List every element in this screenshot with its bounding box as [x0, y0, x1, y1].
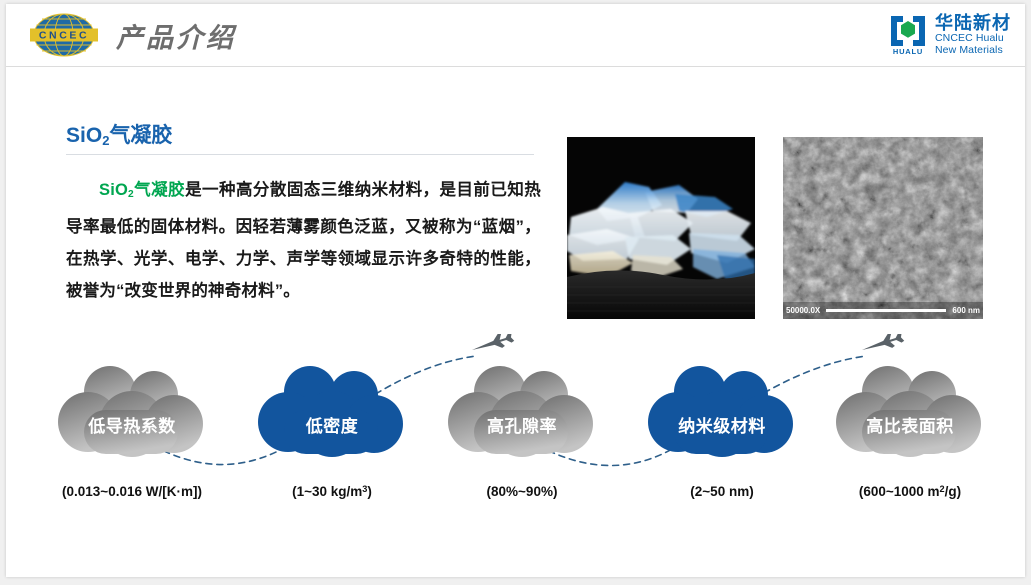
sem-ruler-line [826, 309, 946, 312]
paragraph-highlight-main: SiO [99, 181, 128, 199]
section-title: SiO2气凝胶 [66, 119, 172, 149]
cloud-high-specific-surface[interactable]: 高比表面积 [832, 362, 988, 458]
section-title-rest: 气凝胶 [109, 124, 172, 147]
cloud-low-density[interactable]: 低密度 [254, 362, 410, 458]
caption-5-post: /g) [945, 484, 962, 499]
cloud-nanoscale-material[interactable]: 纳米级材料 [644, 362, 800, 458]
sem-micrograph: 50000.0X 600 nm [783, 137, 983, 319]
cloud-high-porosity[interactable]: 高孔隙率 [444, 362, 600, 458]
caption-3: (80%~90%) [407, 484, 637, 499]
hualu-logo-en2: New Materials [935, 45, 1011, 56]
caption-2-pre: (1~30 kg/m [292, 484, 362, 499]
plane-icon-4 [860, 334, 905, 357]
paragraph-highlight: SiO2气凝胶 [99, 181, 185, 199]
sem-scale-value: 600 nm [952, 306, 980, 315]
cloud-label-5: 高比表面积 [832, 412, 988, 437]
sem-magnification: 50000.0X [786, 306, 820, 315]
caption-5: (600~1000 m2/g) [795, 484, 1025, 499]
cncec-globe-logo: CNCEC [22, 12, 106, 58]
cloud-label-4: 纳米级材料 [644, 412, 800, 437]
cloud-label-2: 低密度 [254, 412, 410, 437]
cncec-wordmark: CNCEC [39, 30, 89, 42]
hualu-logo-text: 华陆新材 CNCEC Hualu New Materials [935, 14, 1011, 56]
page-title: 产品介绍 [116, 16, 236, 55]
cloud-label-1: 低导热系数 [54, 412, 210, 437]
sem-scale-bar: 50000.0X 600 nm [783, 302, 983, 319]
paragraph-highlight-rest: 气凝胶 [134, 181, 185, 199]
caption-2-post: ) [367, 484, 372, 499]
aerogel-photo [567, 137, 755, 319]
properties-cloud-diagram: 低导热系数 低密度 [6, 334, 1025, 514]
cncec-hualu-logo: HUALU 华陆新材 CNCEC Hualu New Materials [888, 13, 1011, 57]
caption-1: (0.013~0.016 W/[K·m]) [17, 484, 247, 499]
hualu-mark-word: HUALU [888, 47, 928, 56]
plane-icon-2 [470, 334, 515, 357]
section-title-divider [66, 154, 534, 155]
cloud-low-thermal-conductivity[interactable]: 低导热系数 [54, 362, 210, 458]
slide-header: CNCEC 产品介绍 HUALU 华陆新材 CNCEC Hualu New Ma… [6, 4, 1025, 67]
caption-5-pre: (600~1000 m [859, 484, 940, 499]
hualu-logo-cn: 华陆新材 [935, 14, 1011, 33]
section-title-main: SiO [66, 124, 102, 147]
hualu-bracket-hex-icon: HUALU [888, 14, 928, 56]
slide: CNCEC 产品介绍 HUALU 华陆新材 CNCEC Hualu New Ma… [6, 4, 1025, 577]
cloud-label-3: 高孔隙率 [444, 412, 600, 437]
description-paragraph: SiO2气凝胶是一种高分散固态三维纳米材料，是目前已知热导率最低的固体材料。因轻… [66, 174, 541, 307]
